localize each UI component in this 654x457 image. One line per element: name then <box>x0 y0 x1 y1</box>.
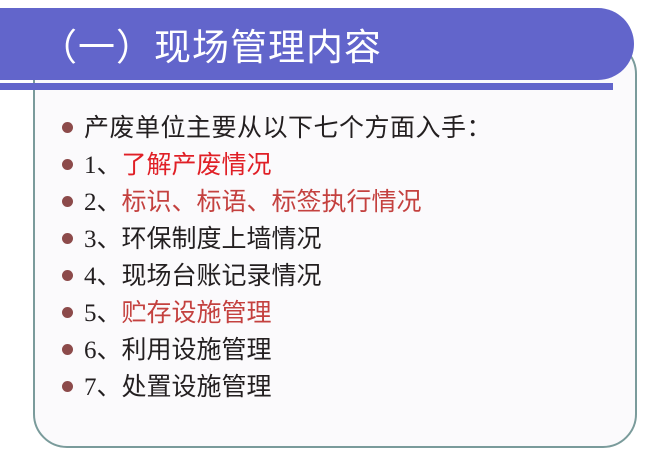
presentation-slide: （一）现场管理内容 产废单位主要从以下七个方面入手： 1、 了解产废情况 2、 … <box>0 0 654 457</box>
list-item: 3、 环保制度上墙情况 <box>62 219 602 256</box>
bullet-icon <box>62 344 73 355</box>
bullet-icon <box>62 159 73 170</box>
bullet-icon <box>62 233 73 244</box>
list-item-number: 4、 <box>84 256 122 292</box>
list-item-text: 产废单位主要从以下七个方面入手： <box>84 108 492 144</box>
bullet-list: 产废单位主要从以下七个方面入手： 1、 了解产废情况 2、 标识、标语、标签执行… <box>62 108 602 404</box>
list-item-number: 1、 <box>84 145 122 181</box>
list-item-text: 利用设施管理 <box>122 330 272 366</box>
list-item: 产废单位主要从以下七个方面入手： <box>62 108 602 145</box>
page-title: （一）现场管理内容 <box>40 8 382 80</box>
bullet-icon <box>62 270 73 281</box>
list-item: 1、 了解产废情况 <box>62 145 602 182</box>
bullet-icon <box>62 307 73 318</box>
list-item-text: 贮存设施管理 <box>122 293 272 329</box>
bullet-icon <box>62 122 73 133</box>
list-item-text: 了解产废情况 <box>122 145 272 181</box>
list-item: 4、 现场台账记录情况 <box>62 256 602 293</box>
list-item-number: 7、 <box>84 367 122 403</box>
list-item: 7、 处置设施管理 <box>62 367 602 404</box>
list-item-text: 环保制度上墙情况 <box>122 219 322 255</box>
list-item-text: 处置设施管理 <box>122 367 272 403</box>
list-item-text: 现场台账记录情况 <box>122 256 322 292</box>
list-item-number: 6、 <box>84 330 122 366</box>
list-item-number: 3、 <box>84 219 122 255</box>
list-item-number: 5、 <box>84 293 122 329</box>
list-item: 5、 贮存设施管理 <box>62 293 602 330</box>
bullet-icon <box>62 381 73 392</box>
list-item-number: 2、 <box>84 182 122 218</box>
list-item: 2、 标识、标语、标签执行情况 <box>62 182 602 219</box>
slide-title-accent-bar <box>0 83 613 90</box>
list-item: 6、 利用设施管理 <box>62 330 602 367</box>
bullet-icon <box>62 196 73 207</box>
list-item-text: 标识、标语、标签执行情况 <box>122 182 422 218</box>
